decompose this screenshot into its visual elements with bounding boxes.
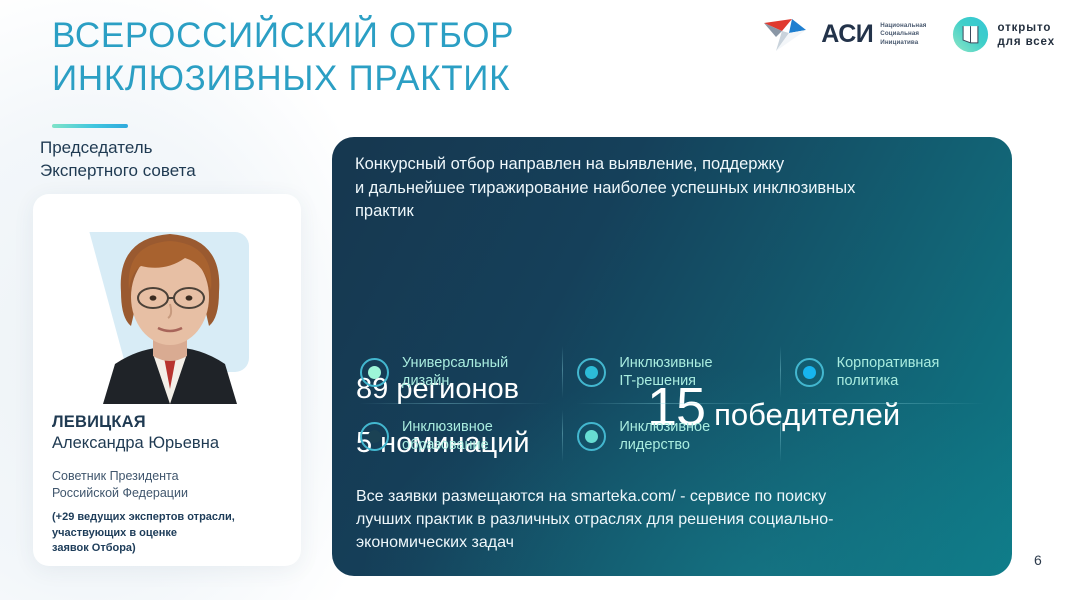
accent-divider (52, 124, 128, 128)
nomination-label: Инклюзивное образование (402, 418, 493, 454)
panel-footer-note: Все заявки размещаются на smarteka.com/ … (356, 485, 996, 554)
chairperson-note: (+29 ведущих экспертов отрасли, участвую… (52, 510, 298, 557)
open-book-circle-logo (952, 16, 989, 53)
bullet-dot-fill (585, 366, 598, 379)
chairperson-label: Председатель Экспертного совета (40, 136, 320, 182)
open-for-all-wordmark: открыто для всех (997, 21, 1055, 49)
nomination-label: Корпоративная политика (837, 354, 940, 390)
bullet-dot-fill (585, 430, 598, 443)
nomination-item-empty (781, 404, 998, 468)
asi-logo: АСИ Национальная Социальная Инициатива (762, 17, 926, 53)
bullet-dot-icon (795, 358, 824, 387)
panel-lede-text: Конкурсный отбор направлен на выявление,… (355, 153, 1003, 224)
chairperson-surname: ЛЕВИЦКАЯ (52, 413, 146, 431)
chairperson-name: ЛЕВИЦКАЯАлександра Юрьевна (52, 412, 292, 454)
chairperson-given-name: Александра Юрьевна (52, 434, 219, 452)
logo-group: АСИ Национальная Социальная Инициатива о… (762, 16, 1055, 53)
nomination-item[interactable]: Инклюзивное образование (346, 404, 563, 468)
asi-subtitle: Национальная Социальная Инициатива (880, 22, 926, 47)
nomination-item[interactable]: Универсальный дизайн (346, 340, 563, 404)
bullet-dot-icon (360, 358, 389, 387)
bullet-dot-fill (368, 366, 381, 379)
portrait-illustration (85, 214, 255, 404)
chairperson-role: Советник Президента Российской Федерации (52, 468, 292, 502)
nomination-label: Инклюзивные IT-решения (619, 354, 712, 390)
bullet-dot-icon (577, 358, 606, 387)
nomination-item[interactable]: Инклюзивное лидерство (563, 404, 780, 468)
bullet-dot-fill (803, 366, 816, 379)
page-title: ВСЕРОССИЙСКИЙ ОТБОР ИНКЛЮЗИВНЫХ ПРАКТИК (52, 14, 692, 100)
nomination-item[interactable]: Инклюзивные IT-решения (563, 340, 780, 404)
slide: ВСЕРОССИЙСКИЙ ОТБОР ИНКЛЮЗИВНЫХ ПРАКТИК … (0, 0, 1067, 600)
nomination-label: Инклюзивное лидерство (619, 418, 710, 454)
asi-arrow-logo (762, 17, 814, 53)
nomination-item[interactable]: Корпоративная политика (781, 340, 998, 404)
chairperson-photo (33, 194, 301, 404)
nomination-label: Универсальный дизайн (402, 354, 508, 390)
open-for-all-logo: открыто для всех (952, 16, 1055, 53)
asi-wordmark: АСИ (821, 22, 873, 47)
bullet-dot-icon (360, 422, 389, 451)
bullet-dot-icon (577, 422, 606, 451)
nominations-grid: Универсальный дизайн Инклюзивные IT-реше… (346, 340, 998, 468)
main-info-panel: Конкурсный отбор направлен на выявление,… (332, 137, 1012, 576)
page-number: 6 (1034, 552, 1042, 568)
bullet-dot-fill (368, 430, 381, 443)
